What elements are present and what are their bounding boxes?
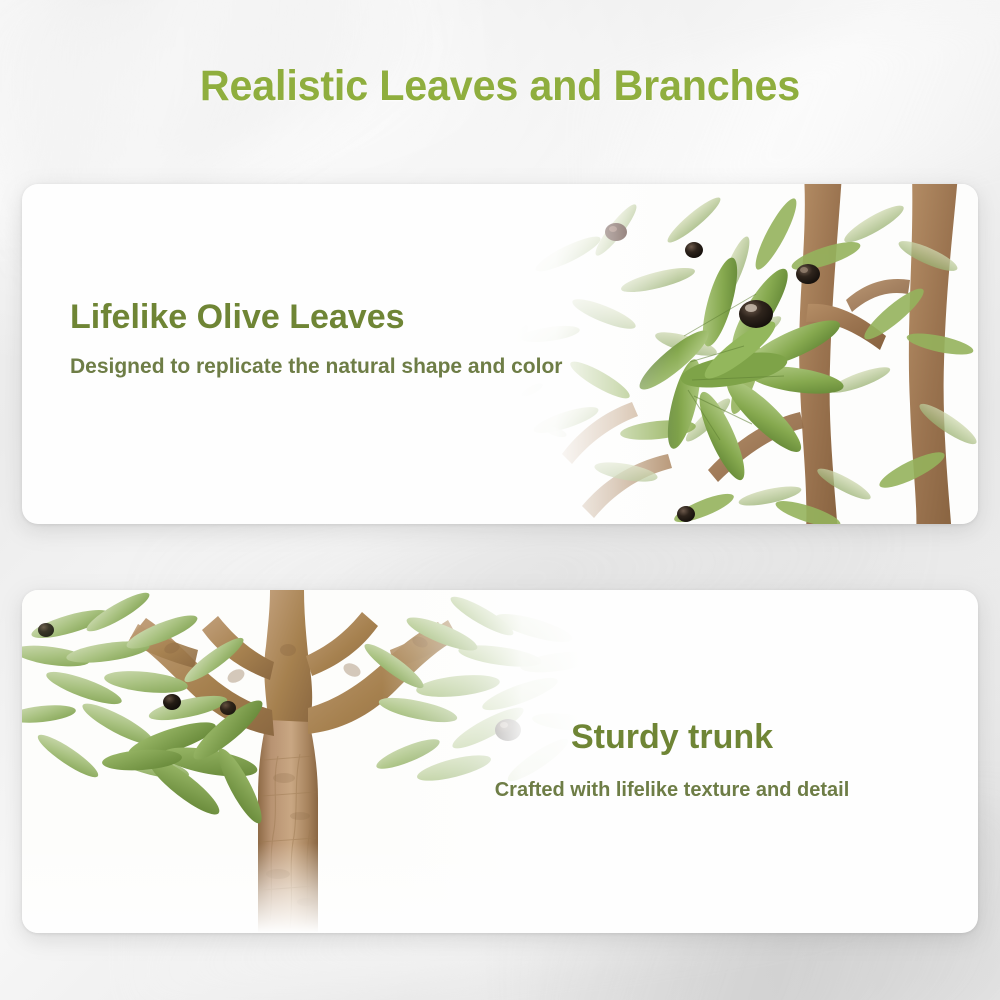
card-text-block: Lifelike Olive Leaves Designed to replic… — [70, 298, 575, 382]
card-heading: Lifelike Olive Leaves — [70, 298, 575, 336]
card-subtitle: Crafted with lifelike texture and detail — [422, 777, 922, 805]
card-subtitle: Designed to replicate the natural shape … — [70, 353, 575, 382]
feature-card-sturdy-trunk: Sturdy trunk Crafted with lifelike textu… — [22, 590, 978, 933]
photo-bottom-fade — [22, 843, 582, 933]
infographic-page: Realistic Leaves and Branches — [0, 0, 1000, 1000]
olive-foliage-photo — [508, 184, 978, 524]
card-heading: Sturdy trunk — [422, 718, 922, 756]
page-title: Realistic Leaves and Branches — [20, 62, 980, 111]
feature-card-lifelike-olive-leaves: Lifelike Olive Leaves Designed to replic… — [22, 184, 978, 524]
card-text-block: Sturdy trunk Crafted with lifelike textu… — [422, 718, 922, 805]
